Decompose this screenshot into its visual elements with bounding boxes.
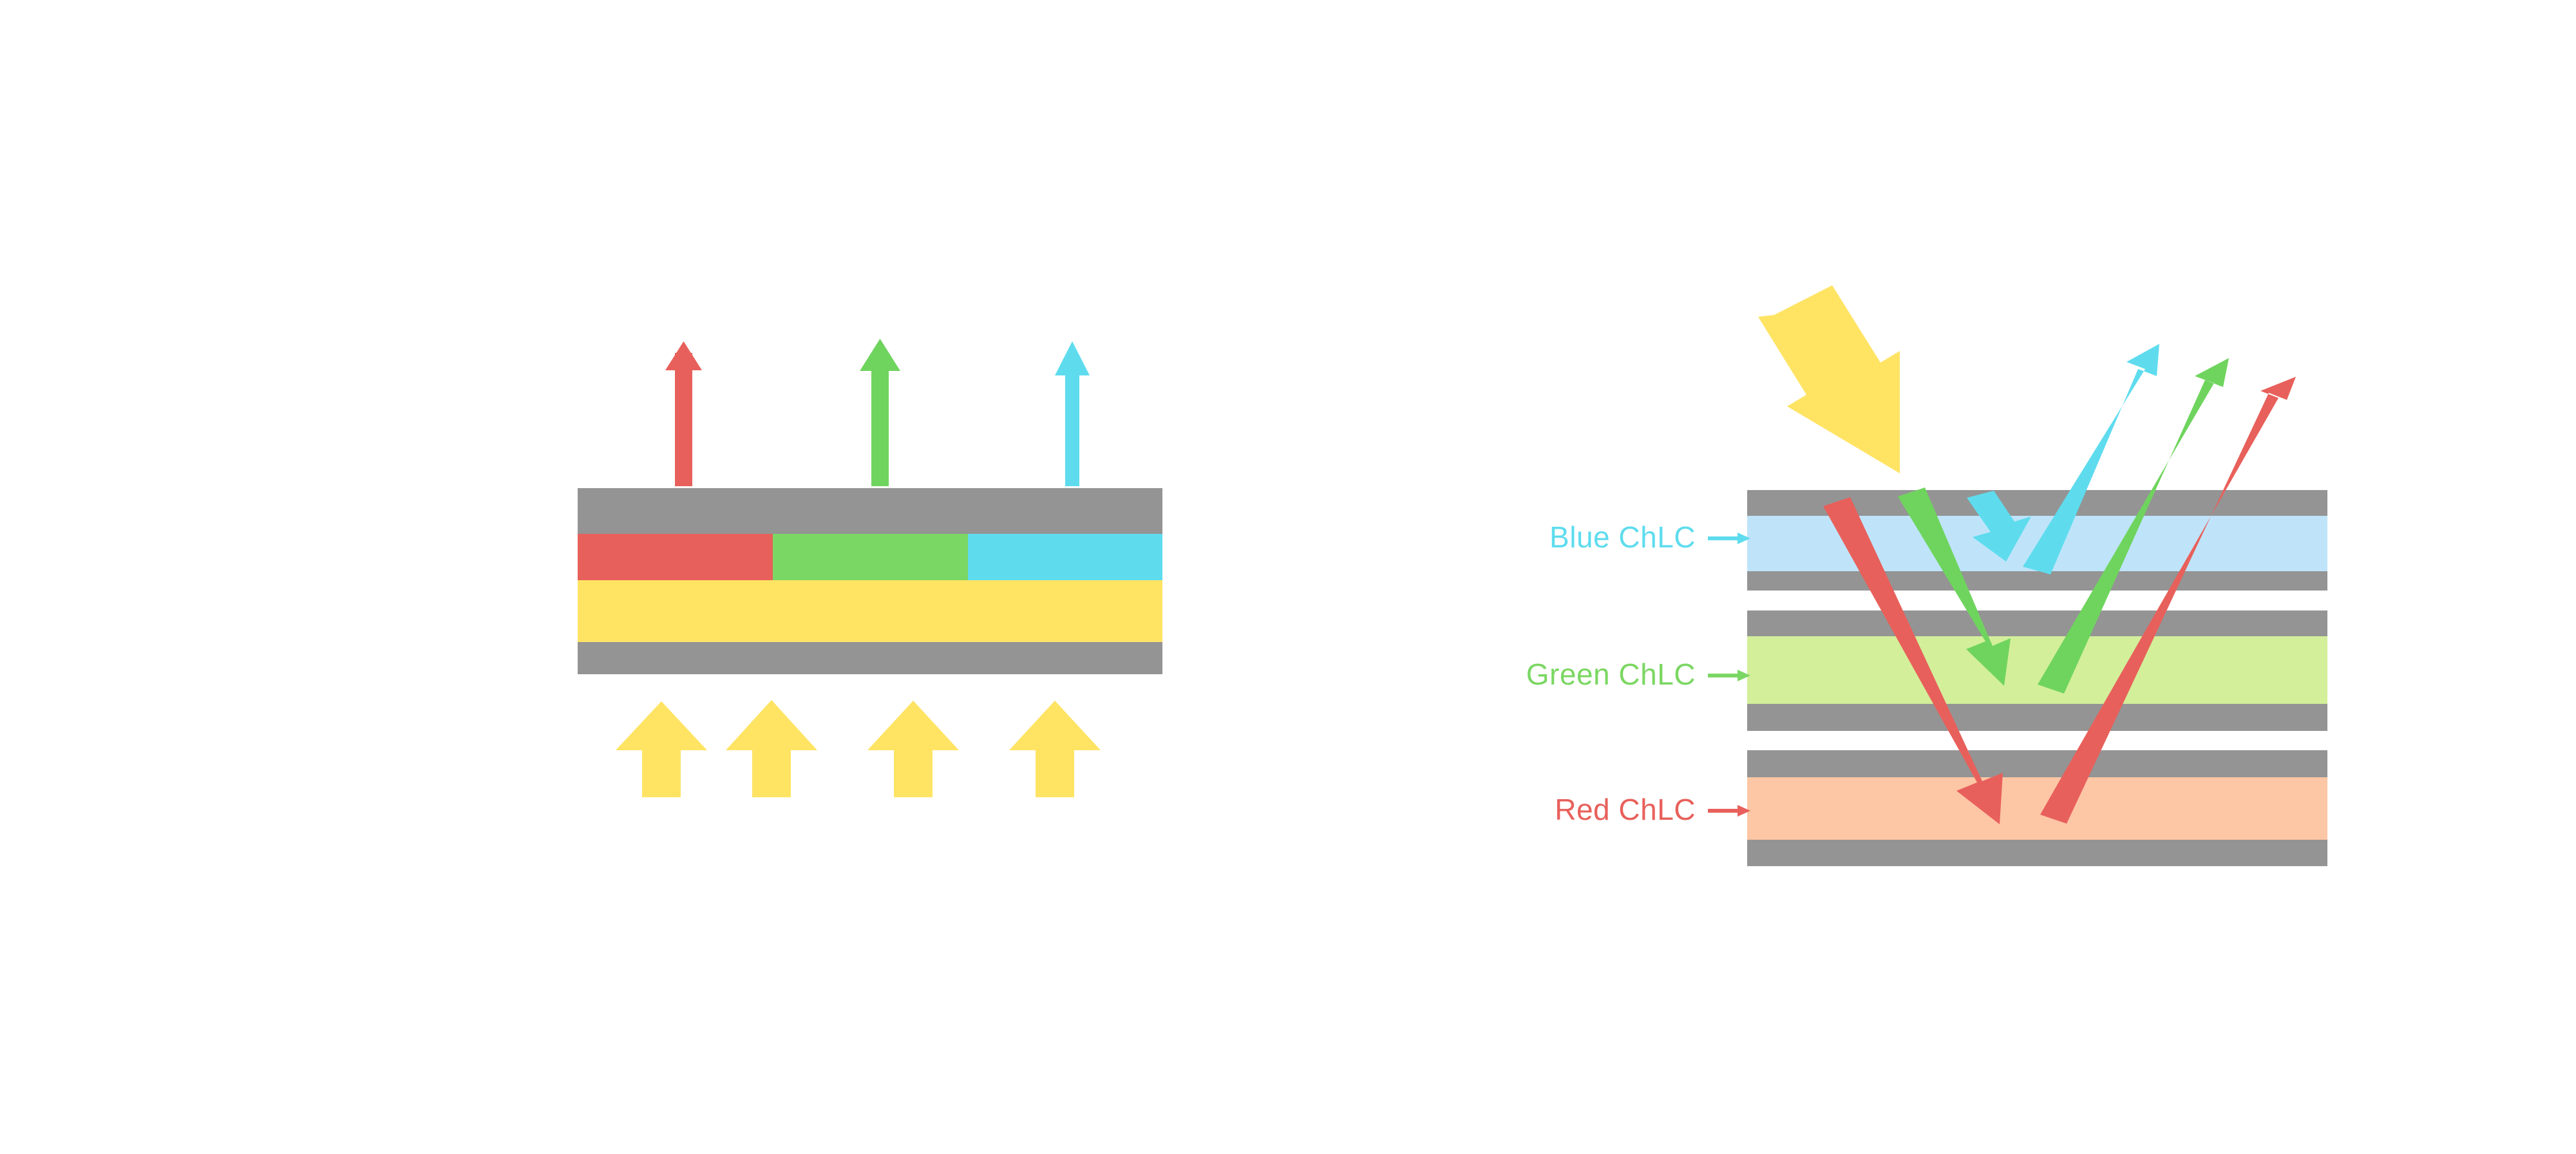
right-panel-labels: Blue ChLC Green ChLC Red ChLC — [0, 0, 2576, 1154]
diagram-canvas: Blue ChLC Green ChLC Red ChLC — [0, 0, 2576, 1154]
blue-chlc-label-arrow-icon — [1708, 533, 1750, 544]
green-chlc-label-arrow-icon — [1708, 670, 1750, 681]
green-chlc-label: Green ChLC — [1526, 657, 1696, 691]
red-chlc-label: Red ChLC — [1555, 793, 1696, 826]
red-chlc-label-arrow-icon — [1708, 805, 1750, 817]
blue-chlc-label: Blue ChLC — [1549, 520, 1696, 554]
